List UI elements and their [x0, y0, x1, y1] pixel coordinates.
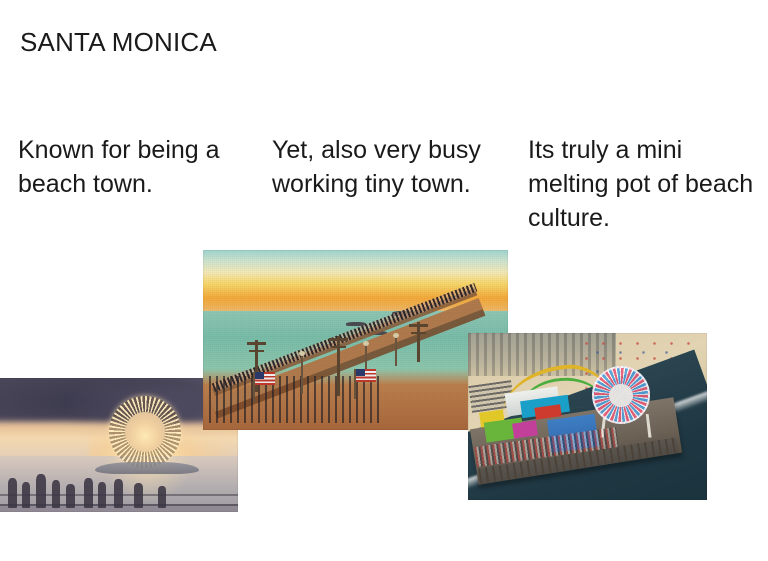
silhouette-person — [158, 486, 166, 508]
aerial-magenta-building — [512, 420, 538, 438]
observation-wheel-icon — [109, 396, 181, 468]
text-column-3: Its truly a mini melting pot of beach cu… — [528, 133, 764, 235]
silhouette-person — [8, 478, 17, 508]
silhouette-person — [114, 479, 123, 508]
photo-vintage-pier-postcard — [203, 250, 508, 430]
silhouette-person — [98, 482, 106, 508]
silhouette-person — [66, 484, 75, 508]
page-title: SANTA MONICA — [20, 28, 217, 57]
silhouette-person — [52, 480, 60, 508]
silhouette-person — [36, 474, 46, 508]
silhouette-person — [84, 478, 93, 508]
silhouette-person — [134, 483, 143, 508]
observation-wheel-base — [95, 462, 199, 474]
silhouette-person — [22, 482, 30, 508]
photo-aerial-pier — [468, 333, 707, 500]
slide-canvas: SANTA MONICA Known for being a beach tow… — [0, 0, 768, 561]
vintage-paper-grain — [203, 250, 508, 430]
text-column-1: Known for being a beach town. — [18, 133, 254, 201]
text-column-2: Yet, also very busy working tiny town. — [272, 133, 508, 201]
